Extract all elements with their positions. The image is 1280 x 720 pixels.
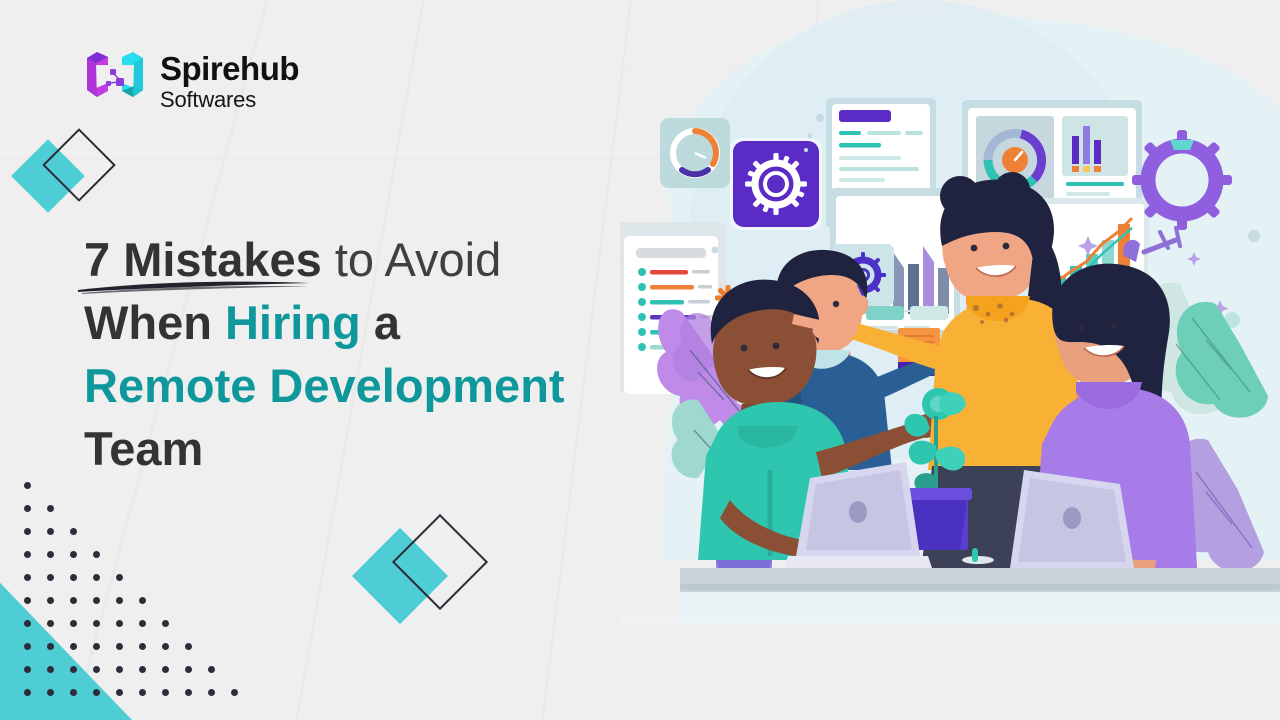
dot-row [24, 528, 238, 535]
dot [116, 666, 123, 673]
dot [70, 643, 77, 650]
dot [116, 643, 123, 650]
dot [162, 666, 169, 673]
headline-line-1-rest: to Avoid [322, 233, 501, 286]
dot [93, 551, 100, 558]
dot [185, 643, 192, 650]
headline-line-4-text: Team [84, 422, 203, 475]
dot [116, 597, 123, 604]
headline-line-3: Remote Development [84, 354, 684, 417]
dot [93, 597, 100, 604]
dot [47, 620, 54, 627]
dot [70, 551, 77, 558]
dot [116, 574, 123, 581]
dot [24, 666, 31, 673]
dot [139, 597, 146, 604]
dot-grid-pattern [24, 482, 238, 712]
dot [47, 689, 54, 696]
headline-line-4: Team [84, 417, 684, 480]
dot [47, 666, 54, 673]
dot-row [24, 482, 238, 489]
headline-emphasis: 7 Mistakes [84, 233, 322, 286]
dot-row [24, 689, 238, 696]
dot [47, 505, 54, 512]
dot [231, 689, 238, 696]
dot [93, 689, 100, 696]
dot [24, 689, 31, 696]
dot [162, 643, 169, 650]
dot [162, 689, 169, 696]
dot [139, 643, 146, 650]
dot [70, 597, 77, 604]
headline-line-2-a: When [84, 296, 225, 349]
brand-subtitle: Softwares [160, 89, 299, 111]
dot [24, 551, 31, 558]
brand-logo[interactable]: Spirehub Softwares [84, 50, 299, 112]
dot [208, 689, 215, 696]
illustration-svg [620, 0, 1280, 720]
gauge-card [660, 118, 730, 188]
dot [24, 643, 31, 650]
dot-row [24, 666, 238, 673]
headline-line-2: When Hiring a [84, 291, 684, 354]
dot [47, 643, 54, 650]
dot [93, 666, 100, 673]
headline-block: 7 Mistakes to Avoid When Hiring a Remote… [84, 228, 684, 480]
dot [70, 528, 77, 535]
dot-row [24, 551, 238, 558]
dot-row [24, 620, 238, 627]
dot [185, 666, 192, 673]
brand-name: Spirehub [160, 52, 299, 85]
dot [139, 620, 146, 627]
marketing-banner: Spirehub Softwares 7 Mistakes to Avoid W… [0, 0, 1280, 720]
hexagon-brackets-logo-icon [84, 50, 146, 112]
dot [24, 574, 31, 581]
dot [47, 597, 54, 604]
dot [116, 620, 123, 627]
dot [24, 528, 31, 535]
dot [139, 689, 146, 696]
dot [24, 482, 31, 489]
dot [47, 551, 54, 558]
dot [162, 620, 169, 627]
dot [47, 528, 54, 535]
dot [47, 574, 54, 581]
dot [24, 620, 31, 627]
dot [70, 574, 77, 581]
dot-row [24, 597, 238, 604]
gear-card-purple [730, 138, 822, 230]
dot [93, 620, 100, 627]
dot [93, 643, 100, 650]
dot [70, 689, 77, 696]
dot [24, 597, 31, 604]
dot-row [24, 643, 238, 650]
dot-row [24, 505, 238, 512]
headline-accent-remote-development: Remote Development [84, 359, 565, 412]
headline-accent-hiring: Hiring [225, 296, 361, 349]
remote-team-collaboration-illustration [620, 0, 1280, 720]
dot [116, 689, 123, 696]
dot [185, 689, 192, 696]
dot [70, 620, 77, 627]
headline-line-2-b: a [361, 296, 400, 349]
dot [208, 666, 215, 673]
dot [70, 666, 77, 673]
dot-row [24, 574, 238, 581]
headline-line-1: 7 Mistakes to Avoid [84, 228, 684, 291]
dot [24, 505, 31, 512]
dot [93, 574, 100, 581]
dot [139, 666, 146, 673]
